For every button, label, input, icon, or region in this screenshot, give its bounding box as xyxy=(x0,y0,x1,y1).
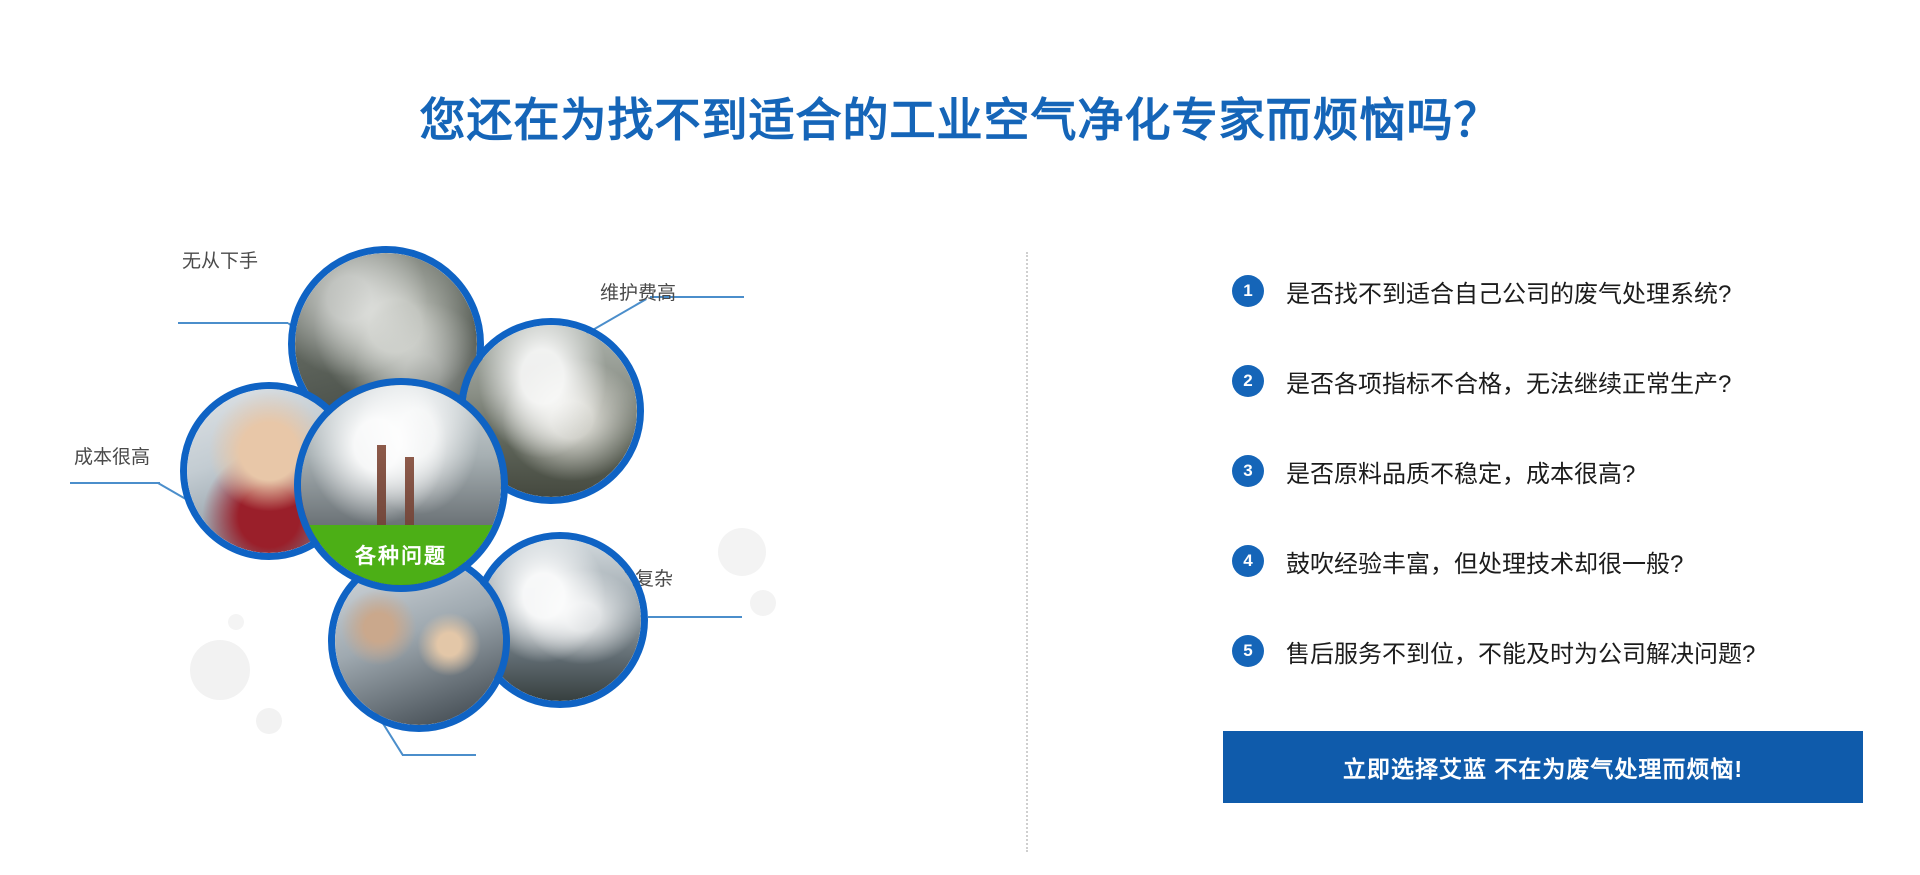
decorative-bubble xyxy=(228,614,244,630)
decorative-bubble xyxy=(750,590,776,616)
label-cheng-ben-hen-gao: 成本很高 xyxy=(74,442,150,469)
question-item-3: 3 是否原料品质不稳定，成本很高? xyxy=(1232,440,1872,502)
question-text-3: 是否原料品质不稳定，成本很高? xyxy=(1286,454,1635,489)
question-number-badge-5: 5 xyxy=(1232,635,1264,667)
center-badge: 各种问题 xyxy=(301,525,501,585)
section-divider xyxy=(1026,252,1028,852)
decorative-bubble xyxy=(256,708,282,734)
label-wei-hu-fei-gao: 维护费高 xyxy=(600,278,676,305)
question-number-badge-2: 2 xyxy=(1232,365,1264,397)
question-text-4: 鼓吹经验丰富，但处理技术却很一般? xyxy=(1286,544,1683,579)
cta-button[interactable]: 立即选择艾蓝 不在为废气处理而烦恼! xyxy=(1223,731,1863,803)
question-number-badge-4: 4 xyxy=(1232,545,1264,577)
page-title: 您还在为找不到适合的工业空气净化专家而烦恼吗？ xyxy=(0,95,1920,146)
label-wu-cong-xia-shou: 无从下手 xyxy=(182,246,258,273)
problem-infographic: 无从下手 维护费高 成本很高 太复杂 经常抱怨 xyxy=(60,230,1000,850)
question-item-1: 1 是否找不到适合自己公司的废气处理系统? xyxy=(1232,260,1872,322)
decorative-bubble xyxy=(718,528,766,576)
question-text-5: 售后服务不到位，不能及时为公司解决问题? xyxy=(1286,634,1755,669)
question-text-2: 是否各项指标不合格，无法继续正常生产? xyxy=(1286,364,1731,399)
question-text-1: 是否找不到适合自己公司的废气处理系统? xyxy=(1286,274,1731,309)
question-item-4: 4 鼓吹经验丰富，但处理技术却很一般? xyxy=(1232,530,1872,592)
question-item-5: 5 售后服务不到位，不能及时为公司解决问题? xyxy=(1232,620,1872,682)
decorative-bubble xyxy=(190,640,250,700)
question-list: 1 是否找不到适合自己公司的废气处理系统? 2 是否各项指标不合格，无法继续正常… xyxy=(1232,260,1872,710)
question-number-badge-1: 1 xyxy=(1232,275,1264,307)
question-item-2: 2 是否各项指标不合格，无法继续正常生产? xyxy=(1232,350,1872,412)
photo-circle-factory-chimneys: 各种问题 xyxy=(294,378,508,592)
question-number-badge-3: 3 xyxy=(1232,455,1264,487)
